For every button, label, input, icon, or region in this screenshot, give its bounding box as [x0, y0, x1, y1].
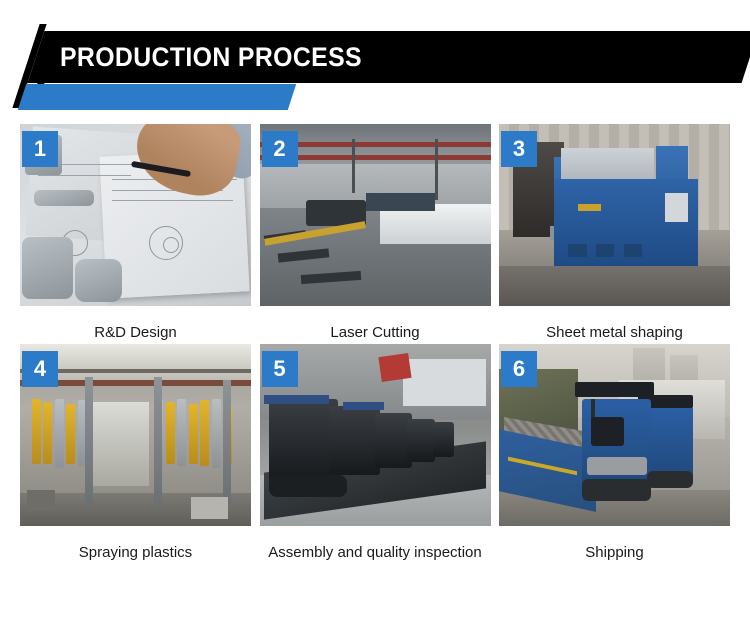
scene-machine-unit: [433, 422, 454, 457]
process-step-image-2: 2: [260, 124, 491, 306]
scene-machine-unit: [329, 406, 380, 475]
scene-support-post: [154, 377, 162, 508]
scene-press-panel: [568, 244, 586, 257]
scene-metal-part: [22, 237, 73, 299]
process-step-label-6: Shipping: [499, 526, 730, 564]
scene-cylinder: [43, 402, 52, 464]
scene-excavator-track: [582, 479, 651, 501]
process-step-card-2[interactable]: 2 Laser Cutting: [260, 124, 491, 344]
process-step-badge-1: 1: [22, 131, 58, 167]
process-step-image-1: 1: [20, 124, 251, 306]
scene-support-post: [85, 377, 93, 508]
scene-warning-label: [578, 204, 601, 211]
process-step-image-4: 4: [20, 344, 251, 526]
process-step-label-5: Assembly and quality inspection: [260, 526, 491, 564]
scene-blue-rack: [343, 402, 385, 409]
scene-excavator-base: [587, 457, 647, 475]
process-steps-grid: 1 R&D Design: [20, 124, 730, 564]
scene-blueprint-line: [38, 175, 130, 176]
scene-column: [435, 139, 438, 201]
production-process-page: PRODUCTION PROCESS: [0, 0, 750, 618]
process-step-badge-6: 6: [501, 351, 537, 387]
scene-machine-unit: [269, 399, 338, 483]
process-step-image-5: 5: [260, 344, 491, 526]
scene-metal-part: [75, 259, 121, 303]
page-header-banner: PRODUCTION PROCESS: [0, 0, 750, 118]
process-step-badge-4: 4: [22, 351, 58, 387]
page-title-container: PRODUCTION PROCESS: [60, 31, 700, 83]
scene-blueprint-circle: [163, 237, 179, 253]
scene-paint-oven: [89, 402, 149, 486]
scene-crate: [27, 490, 55, 512]
scene-cylinder: [212, 399, 221, 468]
scene-cylinder: [189, 404, 198, 464]
process-step-card-6[interactable]: 6 Shipping: [499, 344, 730, 564]
scene-operator-seat: [591, 417, 623, 446]
scene-control-box: [665, 193, 688, 222]
header-blue-accent-bar: [18, 84, 296, 110]
scene-blueprint-line: [112, 200, 232, 201]
scene-press-panel: [624, 244, 642, 257]
process-step-badge-5: 5: [262, 351, 298, 387]
scene-press-panel: [596, 244, 614, 257]
scene-excavator-canopy: [575, 382, 654, 397]
scene-track: [269, 475, 348, 497]
scene-cylinder: [55, 399, 64, 468]
process-step-card-1[interactable]: 1 R&D Design: [20, 124, 251, 344]
process-step-badge-3: 3: [501, 131, 537, 167]
process-step-label-4: Spraying plastics: [20, 526, 251, 564]
process-step-image-6: 6: [499, 344, 730, 526]
scene-support-post: [223, 380, 231, 504]
process-step-card-3[interactable]: 3 Sheet metal shaping: [499, 124, 730, 344]
process-row-1: 1 R&D Design: [20, 124, 730, 344]
scene-banner: [378, 353, 411, 382]
scene-blue-rack: [264, 395, 329, 404]
scene-cylinder: [66, 404, 75, 464]
process-step-label-3: Sheet metal shaping: [499, 306, 730, 344]
scene-excavator-track: [647, 471, 693, 487]
scene-caliper: [34, 190, 94, 206]
scene-cylinder: [200, 400, 209, 466]
scene-machine-unit: [407, 419, 435, 463]
scene-column: [352, 139, 355, 194]
scene-crate: [191, 497, 228, 519]
scene-window: [403, 359, 486, 406]
process-step-label-1: R&D Design: [20, 306, 251, 344]
process-step-badge-2: 2: [262, 131, 298, 167]
scene-laser-gantry: [366, 193, 435, 211]
scene-cylinder: [177, 399, 186, 466]
process-step-card-5[interactable]: 5 Assembly and quality inspection: [260, 344, 491, 564]
scene-cylinder: [166, 402, 175, 464]
page-title: PRODUCTION PROCESS: [60, 42, 362, 73]
process-step-label-2: Laser Cutting: [260, 306, 491, 344]
process-step-image-3: 3: [499, 124, 730, 306]
scene-floor: [499, 266, 730, 306]
process-step-card-4[interactable]: 4 Spraying plastics: [20, 344, 251, 564]
scene-cylinder: [32, 399, 41, 465]
process-row-2: 4 Spraying plastics: [20, 344, 730, 564]
